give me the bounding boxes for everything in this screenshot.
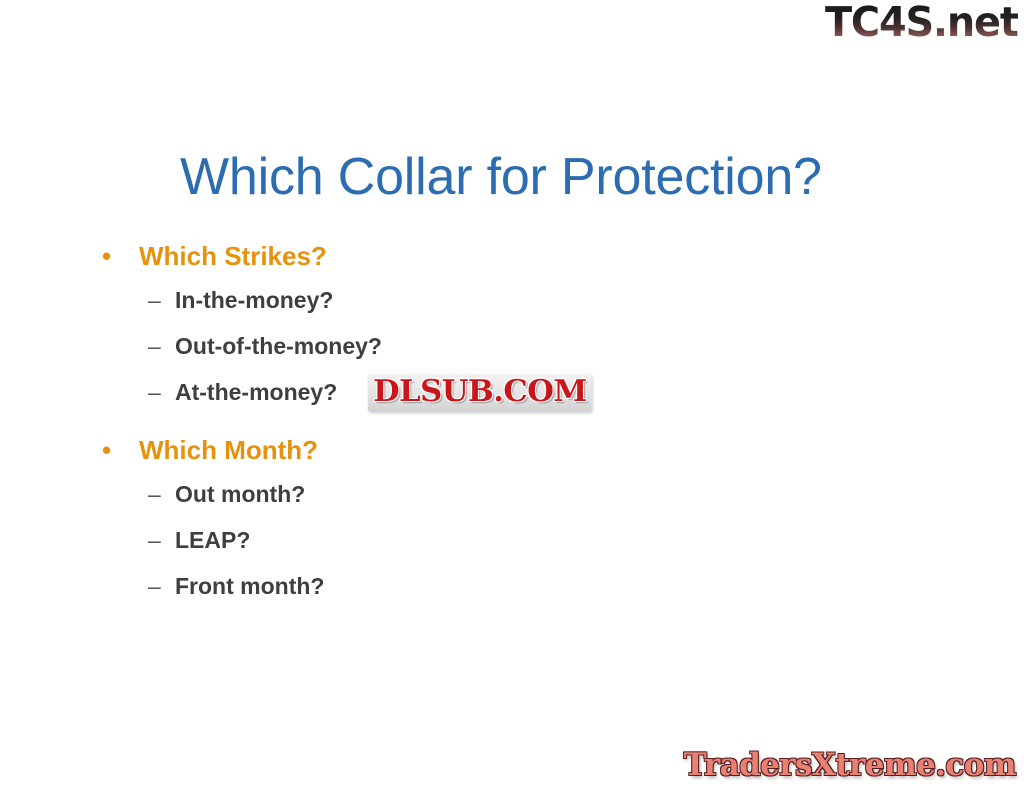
list-item: – LEAP?	[0, 529, 1024, 575]
dash-marker-icon: –	[148, 575, 161, 598]
list-item-label: Front month?	[175, 573, 324, 599]
list-item-label: Out month?	[175, 481, 305, 507]
slide-body-outline: • Which Strikes? – In-the-money? – Out-o…	[0, 243, 1024, 621]
dash-marker-icon: –	[148, 289, 161, 312]
list-item-label: LEAP?	[175, 527, 250, 553]
presentation-slide: TC4S.net Which Collar for Protection? • …	[0, 0, 1024, 791]
dlsub-watermark: DLSUB.COM	[368, 374, 592, 411]
list-item: – Front month?	[0, 575, 1024, 621]
bullet-dot-icon: •	[102, 243, 111, 269]
dash-marker-icon: –	[148, 483, 161, 506]
list-item: – In-the-money?	[0, 289, 1024, 335]
dash-marker-icon: –	[148, 529, 161, 552]
dash-marker-icon: –	[148, 335, 161, 358]
dash-marker-icon: –	[148, 381, 161, 404]
list-item: – Out month?	[0, 483, 1024, 529]
bullet-dot-icon: •	[102, 437, 111, 463]
tc4s-site-logo: TC4S.net	[825, 2, 1018, 43]
list-item-label: At-the-money?	[175, 379, 337, 405]
tradersxtreme-footer-watermark: TradersXtreme.com	[684, 750, 1016, 781]
page-title: Which Collar for Protection?	[180, 148, 822, 208]
outline-heading-which-month: • Which Month?	[0, 437, 1024, 483]
list-item-label: In-the-money?	[175, 287, 333, 313]
outline-heading-label: Which Month?	[139, 435, 318, 465]
outline-heading-label: Which Strikes?	[139, 241, 327, 271]
list-item-label: Out-of-the-money?	[175, 333, 382, 359]
outline-heading-which-strikes: • Which Strikes?	[0, 243, 1024, 289]
